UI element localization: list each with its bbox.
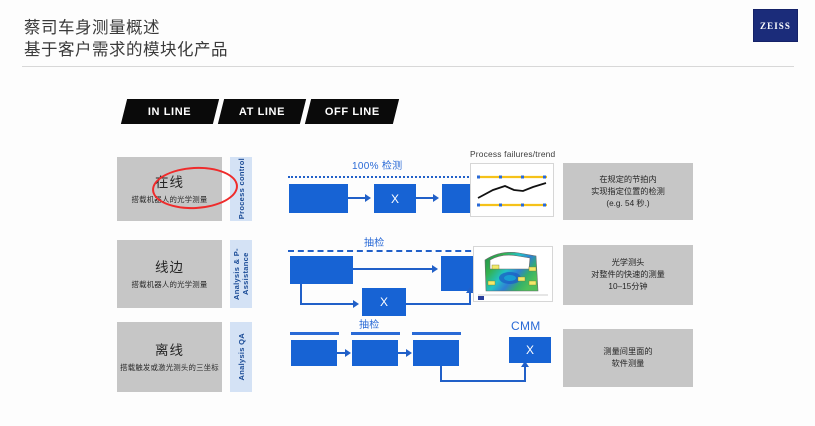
- page-title: 蔡司车身测量概述 基于客户需求的模块化产品: [24, 17, 228, 61]
- title-line-2: 基于客户需求的模块化产品: [24, 39, 228, 61]
- flow-box-r2-x[interactable]: X: [362, 288, 406, 316]
- side-tag-process-control: Process control: [230, 157, 252, 221]
- mode-sub-offline: 搭载触发或激光测头的三坐标: [120, 362, 219, 373]
- tab-off-line-label: OFF LINE: [325, 106, 380, 118]
- side-tag-analysis-p-assistance: Analysis & P-Assistance: [230, 240, 252, 308]
- flow-connector-r2-down: [300, 284, 302, 305]
- flow-box-r1-x-label: X: [391, 192, 399, 206]
- tab-in-line-label: IN LINE: [148, 106, 191, 118]
- flow-label-sampling-row2: 抽检: [364, 234, 385, 249]
- chart-process-failures-trend[interactable]: [470, 163, 554, 217]
- tab-in-line[interactable]: IN LINE: [121, 99, 219, 124]
- mode-title-offline: 离线: [155, 342, 184, 360]
- mode-box-atline[interactable]: 线边 搭载机器人的光学测量: [117, 240, 222, 308]
- header-divider: [22, 66, 794, 67]
- flow-arrow-r1-a: [365, 194, 371, 202]
- side-tag-analysis-qa: Analysis QA: [230, 322, 252, 392]
- flow-box-r3-cmm-x[interactable]: X: [509, 337, 551, 363]
- flow-connector-r2-up: [469, 292, 471, 305]
- tab-at-line-label: AT LINE: [239, 106, 285, 118]
- note-box-offline: 测量间里面的 软件测量: [563, 329, 693, 387]
- flow-connector-r2-return: [406, 303, 471, 305]
- title-line-1: 蔡司车身测量概述: [24, 17, 228, 39]
- zeiss-logo-text: ZEISS: [760, 21, 791, 31]
- flow-connector-r2-top: [353, 268, 435, 270]
- flow-box-r1-1[interactable]: [289, 184, 348, 213]
- note-atline-line-2: 对整件的快速的测量: [591, 269, 665, 281]
- flow-seg-r3-2: [351, 332, 400, 335]
- flow-box-r1-x[interactable]: X: [374, 184, 416, 213]
- mode-sub-online: 搭载机器人的光学测量: [132, 194, 208, 205]
- note-atline-line-3: 10–15分钟: [608, 281, 647, 293]
- flow-arrow-r2-top: [432, 265, 438, 273]
- zeiss-logo: ZEISS: [753, 9, 798, 42]
- cmm-label: CMM: [511, 319, 541, 333]
- flow-seg-r3-3: [412, 332, 461, 335]
- flow-connector-r3-up: [524, 366, 526, 381]
- flow-box-r3-3[interactable]: [413, 340, 459, 366]
- note-offline-line-1: 测量间里面的: [603, 346, 652, 358]
- tab-bar: IN LINE AT LINE OFF LINE: [124, 99, 401, 124]
- flow-box-r3-cmm-x-label: X: [526, 343, 534, 357]
- flow-box-r2-1[interactable]: [290, 256, 353, 284]
- flow-connector-r2-bottom-in: [300, 303, 355, 305]
- flow-label-100-inspection: 100% 检测: [352, 157, 402, 172]
- flow-box-r3-2[interactable]: [352, 340, 398, 366]
- side-tag-analysis-p-assistance-label: Analysis & P-Assistance: [232, 240, 250, 308]
- flow-box-r2-x-label: X: [380, 295, 388, 309]
- slide-canvas: 蔡司车身测量概述 基于客户需求的模块化产品 ZEISS IN LINE AT L…: [0, 0, 815, 426]
- note-box-inline: 在规定的节拍内 实现指定位置的检测 (e.g. 54 秒.): [563, 163, 693, 220]
- flow-label-sampling-row3: 抽检: [359, 316, 380, 331]
- note-inline-line-2: 实现指定位置的检测: [591, 186, 665, 198]
- mode-title-online: 在线: [155, 174, 184, 192]
- flow-arrow-r3-b: [406, 349, 412, 357]
- note-inline-line-1: 在规定的节拍内: [599, 174, 656, 186]
- flow-box-r3-1[interactable]: [291, 340, 337, 366]
- note-inline-line-3: (e.g. 54 秒.): [606, 198, 649, 210]
- mode-box-online[interactable]: 在线 搭载机器人的光学测量: [117, 157, 222, 221]
- note-box-atline: 光学测头 对整件的快速的测量 10–15分钟: [563, 245, 693, 305]
- side-tag-analysis-qa-label: Analysis QA: [237, 333, 246, 380]
- chart-caption-process-failures: Process failures/trend: [470, 149, 555, 159]
- mode-box-offline[interactable]: 离线 搭载触发或激光测头的三坐标: [117, 322, 222, 392]
- note-offline-line-2: 软件测量: [612, 358, 645, 370]
- note-atline-line-1: 光学测头: [612, 257, 645, 269]
- mode-sub-atline: 搭载机器人的光学测量: [132, 279, 208, 290]
- flow-arrow-r1-b: [433, 194, 439, 202]
- flow-arrow-r2-bottom: [353, 300, 359, 308]
- door-heatmap-svg: [474, 247, 552, 301]
- flow-seg-r3-1: [290, 332, 339, 335]
- chart-door-heatmap[interactable]: [473, 246, 553, 302]
- flow-connector-r3-bottom: [440, 380, 526, 382]
- side-tag-process-control-label: Process control: [237, 158, 246, 219]
- tab-at-line[interactable]: AT LINE: [218, 99, 306, 124]
- flow-arrow-r3-a: [345, 349, 351, 357]
- tab-off-line[interactable]: OFF LINE: [305, 99, 399, 124]
- mode-title-atline: 线边: [155, 259, 184, 277]
- trend-chart-svg: [471, 164, 553, 216]
